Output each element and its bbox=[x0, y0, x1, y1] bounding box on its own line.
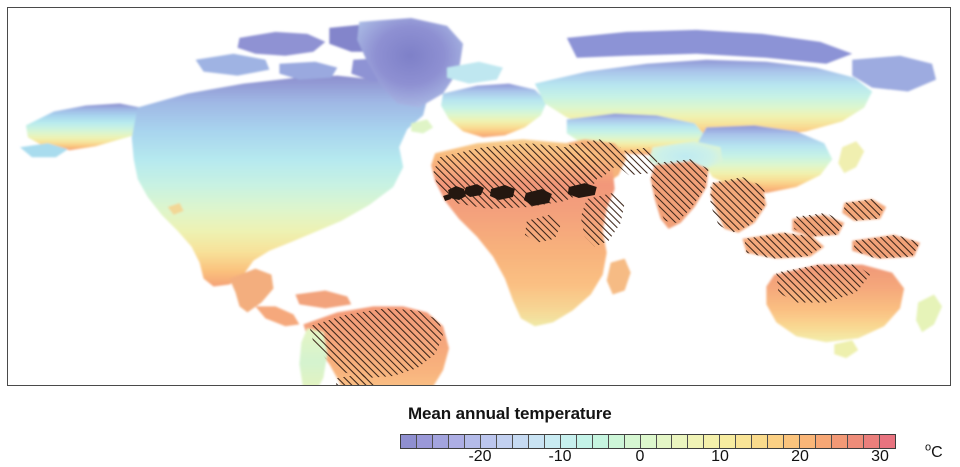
colorbar-cell bbox=[497, 435, 513, 448]
colorbar-wrapper bbox=[400, 434, 896, 449]
colorbar-cell bbox=[784, 435, 800, 448]
colorbar-cell bbox=[417, 435, 433, 448]
colorbar-cell bbox=[864, 435, 880, 448]
colorbar-cell bbox=[481, 435, 497, 448]
colorbar-cell bbox=[800, 435, 816, 448]
legend-block: Mean annual temperature bbox=[0, 386, 960, 467]
colorbar-cell bbox=[848, 435, 864, 448]
world-temperature-map bbox=[8, 8, 950, 385]
colorbar-cell bbox=[704, 435, 720, 448]
colorbar-cell bbox=[752, 435, 768, 448]
colorbar-cell bbox=[688, 435, 704, 448]
colorbar-cell bbox=[880, 435, 895, 448]
colorbar-cell bbox=[736, 435, 752, 448]
colorbar-cell bbox=[625, 435, 641, 448]
map-panel bbox=[7, 7, 951, 386]
colorbar-cell bbox=[529, 435, 545, 448]
colorbar-cell bbox=[561, 435, 577, 448]
colorbar-cell bbox=[401, 435, 417, 448]
colorbar-cell bbox=[768, 435, 784, 448]
colorbar-cell bbox=[577, 435, 593, 448]
colorbar-cell bbox=[545, 435, 561, 448]
colorbar-cell bbox=[657, 435, 673, 448]
legend-title: Mean annual temperature bbox=[408, 404, 612, 424]
temperature-colorbar bbox=[400, 434, 896, 449]
colorbar-cell bbox=[672, 435, 688, 448]
colorbar-cell bbox=[593, 435, 609, 448]
colorbar-cell bbox=[449, 435, 465, 448]
figure-root: Mean annual temperature oC -20-100102030 bbox=[0, 0, 960, 467]
colorbar-cell bbox=[609, 435, 625, 448]
colorbar-cell bbox=[465, 435, 481, 448]
colorbar-cell bbox=[720, 435, 736, 448]
colorbar-cell bbox=[832, 435, 848, 448]
colorbar-cell bbox=[816, 435, 832, 448]
colorbar-cell bbox=[513, 435, 529, 448]
colorbar-cell bbox=[641, 435, 657, 448]
colorbar-cell bbox=[433, 435, 449, 448]
